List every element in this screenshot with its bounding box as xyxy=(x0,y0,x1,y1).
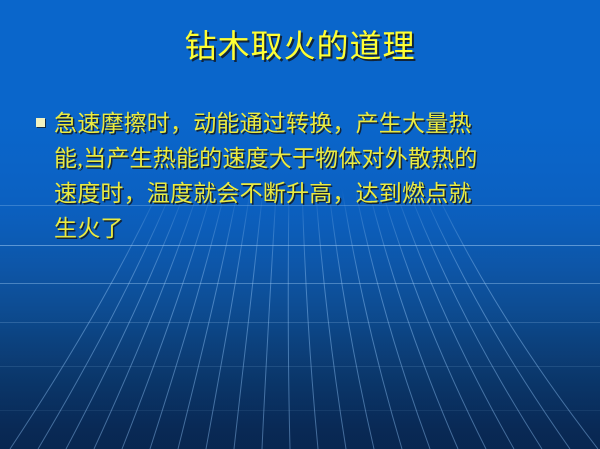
bullet-text: 急速摩擦时，动能通过转换，产生大量热 能,当产生热能的速度大于物体对外散热的 速… xyxy=(54,106,578,246)
bullet-text-line: 速度时，温度就会不断升高，达到燃点就 xyxy=(54,176,578,211)
bullet-list-item: 急速摩擦时，动能通过转换，产生大量热 能,当产生热能的速度大于物体对外散热的 速… xyxy=(36,106,578,246)
square-bullet-icon xyxy=(36,118,45,127)
slide-title: 钻木取火的道理 xyxy=(0,26,600,66)
bullet-text-line: 能,当产生热能的速度大于物体对外散热的 xyxy=(54,141,578,176)
bullet-text-line: 急速摩擦时，动能通过转换，产生大量热 xyxy=(54,106,578,141)
presentation-slide: 钻木取火的道理 急速摩擦时，动能通过转换，产生大量热 能,当产生热能的速度大于物… xyxy=(0,0,600,449)
slide-content: 钻木取火的道理 急速摩擦时，动能通过转换，产生大量热 能,当产生热能的速度大于物… xyxy=(0,0,600,449)
bullet-text-line: 生火了 xyxy=(54,211,578,246)
